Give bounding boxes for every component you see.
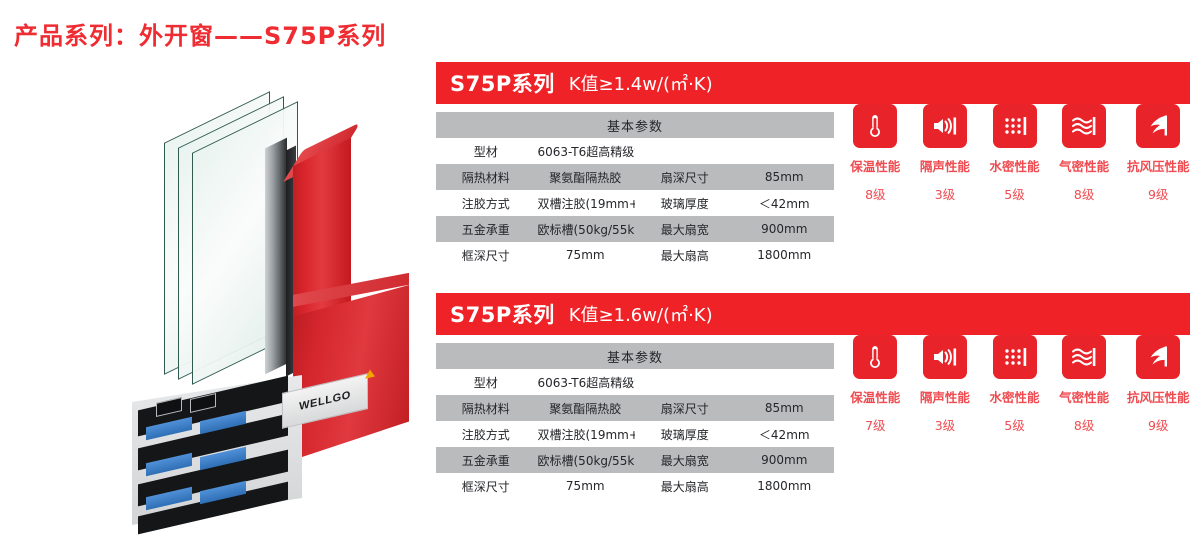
spec-table: 基本参数 型材 6063-T6超高精级铝型材 隔热材料 聚氨酯隔热胶 扇深尺寸 …	[436, 112, 834, 268]
row-key-1: 框深尺寸	[436, 242, 536, 268]
table-head-row: 基本参数	[436, 343, 834, 369]
row-value-2: 900mm	[735, 447, 835, 473]
row-value-2	[735, 138, 835, 164]
row-key-1: 型材	[436, 138, 536, 164]
row-value-2: 900mm	[735, 216, 835, 242]
row-value-2: 85mm	[735, 395, 835, 421]
thermometer-icon	[853, 335, 897, 379]
row-key-2: 最大扇高	[635, 242, 735, 268]
table-row: 框深尺寸 75mm 最大扇高 1800mm	[436, 473, 834, 499]
air-wave-icon	[1062, 104, 1106, 148]
row-key-1: 五金承重	[436, 447, 536, 473]
row-value-1: 聚氨酯隔热胶	[536, 164, 636, 190]
air-wave-icon	[1062, 335, 1106, 379]
performance-item-windload: 抗风压性能 9级	[1122, 104, 1190, 203]
row-key-2: 最大扇高	[635, 473, 735, 499]
row-key-1: 注胶方式	[436, 190, 536, 216]
spec-table: 基本参数 型材 6063-T6超高精级铝型材 隔热材料 聚氨酯隔热胶 扇深尺寸 …	[436, 343, 834, 499]
performance-label: 水密性能	[990, 156, 1040, 175]
row-value-2: ＜42mm	[735, 190, 835, 216]
row-value-1: 6063-T6超高精级铝型材	[536, 138, 636, 164]
table-row: 型材 6063-T6超高精级铝型材	[436, 369, 834, 395]
table-row: 五金承重 欧标槽(50kg/55kg/60kg/75kg) 最大扇宽 900mm	[436, 447, 834, 473]
row-value-1: 75mm	[536, 242, 636, 268]
k-value: K值≥1.4w/(㎡·K)	[569, 70, 713, 96]
performance-grade: 9级	[1148, 184, 1168, 203]
performance-grade: 8级	[1074, 184, 1094, 203]
performance-item-thermal: 保温性能 7级	[844, 335, 907, 434]
row-key-1: 框深尺寸	[436, 473, 536, 499]
row-key-1: 注胶方式	[436, 421, 536, 447]
row-value-2: ＜42mm	[735, 421, 835, 447]
series-name: S75P系列	[450, 68, 555, 98]
performance-grade: 8级	[1074, 415, 1094, 434]
product-illustration: WELLGO	[60, 75, 410, 495]
sound-wave-icon	[923, 104, 967, 148]
water-dots-icon	[993, 335, 1037, 379]
performance-item-air: 气密性能 8级	[1053, 335, 1116, 434]
row-key-2: 扇深尺寸	[635, 164, 735, 190]
wind-flag-icon	[1136, 104, 1180, 148]
row-value-1: 欧标槽(50kg/55kg/60kg/75kg)	[536, 447, 636, 473]
performance-label: 保温性能	[850, 387, 900, 406]
row-key-2: 玻璃厚度	[635, 421, 735, 447]
performance-item-sound: 隔声性能 3级	[914, 104, 977, 203]
performance-grade: 9级	[1148, 415, 1168, 434]
row-key-1: 五金承重	[436, 216, 536, 242]
row-key-1: 型材	[436, 369, 536, 395]
performance-grade: 8级	[865, 184, 885, 203]
performance-label: 抗风压性能	[1127, 156, 1190, 175]
performance-label: 气密性能	[1059, 156, 1109, 175]
performance-row: 保温性能 8级 隔声性能 3级	[844, 104, 1190, 203]
performance-label: 水密性能	[990, 387, 1040, 406]
brand-name: WELLGO	[299, 389, 351, 413]
performance-item-windload: 抗风压性能 9级	[1122, 335, 1190, 434]
row-key-2: 扇深尺寸	[635, 395, 735, 421]
table-row: 框深尺寸 75mm 最大扇高 1800mm	[436, 242, 834, 268]
sound-wave-icon	[923, 335, 967, 379]
performance-grade: 7级	[865, 415, 885, 434]
table-row: 隔热材料 聚氨酯隔热胶 扇深尺寸 85mm	[436, 395, 834, 421]
row-value-1: 欧标槽(50kg/55kg/60kg/75kg)	[536, 216, 636, 242]
table-row: 五金承重 欧标槽(50kg/55kg/60kg/75kg) 最大扇宽 900mm	[436, 216, 834, 242]
table-row: 注胶方式 双槽注胶(19mm+19mm) 玻璃厚度 ＜42mm	[436, 421, 834, 447]
spec-header: S75P系列 K值≥1.4w/(㎡·K)	[436, 62, 1190, 104]
row-value-2	[735, 369, 835, 395]
row-value-1: 6063-T6超高精级铝型材	[536, 369, 636, 395]
performance-item-thermal: 保温性能 8级	[844, 104, 907, 203]
water-dots-icon	[993, 104, 1037, 148]
row-value-1: 双槽注胶(19mm+19mm)	[536, 421, 636, 447]
table-row: 隔热材料 聚氨酯隔热胶 扇深尺寸 85mm	[436, 164, 834, 190]
page-title: 产品系列：外开窗——S75P系列	[14, 16, 386, 51]
performance-item-sound: 隔声性能 3级	[914, 335, 977, 434]
row-key-1: 隔热材料	[436, 164, 536, 190]
performance-grade: 3级	[935, 184, 955, 203]
spec-block-2: S75P系列 K值≥1.6w/(㎡·K) 基本参数 型材 6063-T6超高精级…	[436, 293, 1190, 335]
performance-grade: 5级	[1004, 184, 1024, 203]
table-head-label: 基本参数	[436, 112, 834, 138]
performance-row: 保温性能 7级 隔声性能 3级	[844, 335, 1190, 434]
thermometer-icon	[853, 104, 897, 148]
row-value-2: 1800mm	[735, 242, 835, 268]
performance-item-water: 水密性能 5级	[983, 335, 1046, 434]
wind-flag-icon	[1136, 335, 1180, 379]
row-value-1: 双槽注胶(19mm+19mm)	[536, 190, 636, 216]
table-head-label: 基本参数	[436, 343, 834, 369]
performance-label: 抗风压性能	[1127, 387, 1190, 406]
spec-header: S75P系列 K值≥1.6w/(㎡·K)	[436, 293, 1190, 335]
product-image: WELLGO	[60, 75, 410, 495]
performance-label: 隔声性能	[920, 156, 970, 175]
k-value: K值≥1.6w/(㎡·K)	[569, 301, 713, 327]
row-key-1: 隔热材料	[436, 395, 536, 421]
series-name: S75P系列	[450, 299, 555, 329]
glazing-spacer	[265, 138, 287, 375]
performance-label: 气密性能	[1059, 387, 1109, 406]
table-row: 型材 6063-T6超高精级铝型材	[436, 138, 834, 164]
table-row: 注胶方式 双槽注胶(19mm+19mm) 玻璃厚度 ＜42mm	[436, 190, 834, 216]
row-key-2	[635, 369, 735, 395]
row-value-2: 85mm	[735, 164, 835, 190]
row-value-1: 聚氨酯隔热胶	[536, 395, 636, 421]
spec-block-1: S75P系列 K值≥1.4w/(㎡·K) 基本参数 型材 6063-T6超高精级…	[436, 62, 1190, 104]
performance-label: 隔声性能	[920, 387, 970, 406]
performance-grade: 5级	[1004, 415, 1024, 434]
row-key-2: 最大扇宽	[635, 447, 735, 473]
performance-item-water: 水密性能 5级	[983, 104, 1046, 203]
row-key-2	[635, 138, 735, 164]
row-value-2: 1800mm	[735, 473, 835, 499]
row-value-1: 75mm	[536, 473, 636, 499]
performance-label: 保温性能	[850, 156, 900, 175]
row-key-2: 最大扇宽	[635, 216, 735, 242]
table-head-row: 基本参数	[436, 112, 834, 138]
row-key-2: 玻璃厚度	[635, 190, 735, 216]
performance-item-air: 气密性能 8级	[1053, 104, 1116, 203]
performance-grade: 3级	[935, 415, 955, 434]
